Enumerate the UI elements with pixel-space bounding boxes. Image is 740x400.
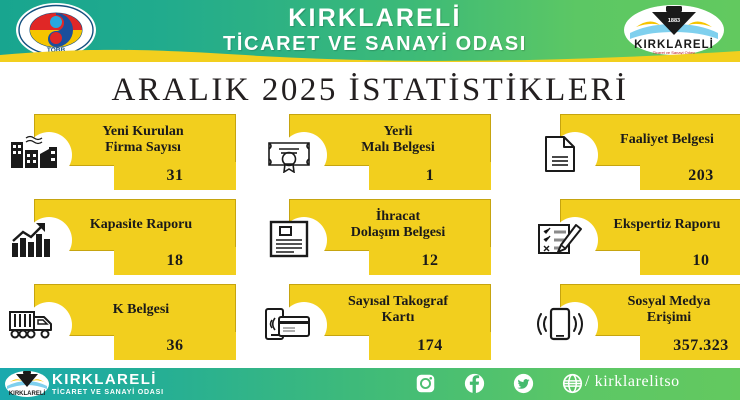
- globe-icon[interactable]: [562, 373, 583, 394]
- stat-card-sayisal-takograf-karti[interactable]: Sayısal Takograf Kartı 174: [259, 282, 489, 364]
- stat-card-value: 357.323: [640, 332, 740, 360]
- kirklareli-logo-year: 1883: [668, 18, 680, 24]
- truck-icon: [6, 298, 62, 350]
- stats-row: Yeni Kurulan Firma Sayısı 31: [0, 112, 740, 197]
- factory-icon: [6, 128, 62, 180]
- poster-root: TOBB KIRKLARELİ TİCARET VE SANAYİ ODASI …: [0, 0, 740, 400]
- stat-card-value: 31: [114, 162, 236, 190]
- footer-org-name-line1: KIRKLARELİ: [52, 372, 164, 387]
- document-icon: [532, 128, 588, 180]
- growth-chart-icon: [6, 213, 62, 265]
- stat-card-value: 10: [640, 247, 740, 275]
- header-title-line1: KIRKLARELİ: [130, 4, 620, 32]
- footer-bar: KIRKLARELİ KIRKLARELİ TİCARET VE SANAYİ …: [0, 368, 740, 400]
- stat-card-yerli-mali-belgesi[interactable]: Yerli Malı Belgesi 1: [259, 112, 489, 194]
- social-links: [415, 373, 583, 394]
- stat-card-value: 12: [369, 247, 491, 275]
- stat-card-value: 36: [114, 332, 236, 360]
- stat-card-k-belgesi[interactable]: K Belgesi 36: [4, 282, 234, 364]
- form-document-icon: [261, 213, 317, 265]
- header-wave-decoration: [0, 47, 740, 62]
- stats-grid: Yeni Kurulan Firma Sayısı 31: [0, 112, 740, 368]
- stat-card-yeni-kurulan-firma-sayisi[interactable]: Yeni Kurulan Firma Sayısı 31: [4, 112, 234, 194]
- stat-card-value: 203: [640, 162, 740, 190]
- stat-card-value: 1: [369, 162, 491, 190]
- twitter-icon[interactable]: [513, 373, 534, 394]
- svg-text:KIRKLARELİ: KIRKLARELİ: [9, 390, 46, 397]
- tachograph-card-icon: [261, 298, 317, 350]
- stat-card-ihracat-dolasim-belgesi[interactable]: İhracat Dolaşım Belgesi 12: [259, 197, 489, 279]
- footer-org-name: KIRKLARELİ TİCARET VE SANAYİ ODASI: [52, 372, 164, 398]
- mobile-signal-icon: [532, 298, 588, 350]
- stats-row: K Belgesi 36: [0, 282, 740, 368]
- checklist-pencil-icon: [532, 213, 588, 265]
- footer-org-name-line2: TİCARET VE SANAYİ ODASI: [52, 387, 164, 398]
- footer-kirklareli-logo: KIRKLARELİ: [4, 370, 50, 398]
- page-title: ARALIK 2025 İSTATİSTİKLERİ: [0, 72, 740, 109]
- certificate-icon: [261, 128, 317, 180]
- stat-card-kapasite-raporu[interactable]: Kapasite Raporu 18: [4, 197, 234, 279]
- header-bar: TOBB KIRKLARELİ TİCARET VE SANAYİ ODASI …: [0, 0, 740, 62]
- facebook-icon[interactable]: [464, 373, 485, 394]
- stat-card-value: 18: [114, 247, 236, 275]
- stat-card-ekspertiz-raporu[interactable]: Ekspertiz Raporu 10: [530, 197, 740, 279]
- footer-social-handle[interactable]: / kirklarelitso: [585, 373, 680, 391]
- stats-row: Kapasite Raporu 18: [0, 197, 740, 282]
- instagram-icon[interactable]: [415, 373, 436, 394]
- stat-card-value: 174: [369, 332, 491, 360]
- stat-card-sosyal-medya-erisimi[interactable]: Sosyal Medya Erişimi 357.323: [530, 282, 740, 364]
- stat-card-faaliyet-belgesi[interactable]: Faaliyet Belgesi 203: [530, 112, 740, 194]
